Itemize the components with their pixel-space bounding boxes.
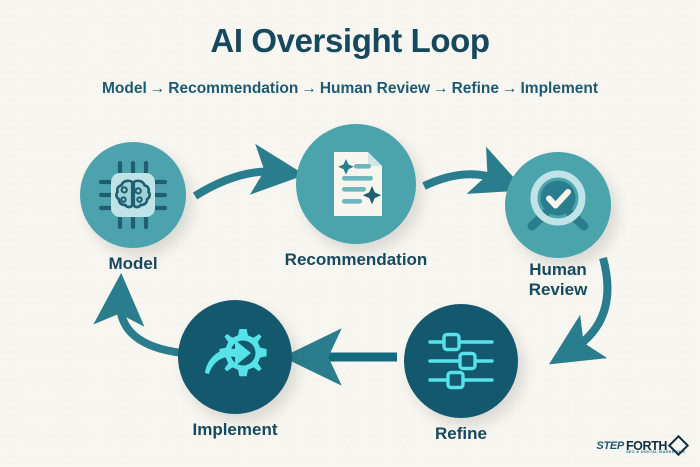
subtitle-separator-2: →	[298, 80, 320, 97]
node-refine[interactable]: Refine	[404, 304, 518, 418]
subtitle-separator-1: →	[147, 80, 169, 97]
node-human-review-label: Human Review	[529, 260, 588, 299]
document-sparkle-icon	[316, 144, 396, 224]
logo-forth-text: FORTH SEO & DIGITAL MARKETING	[626, 439, 667, 453]
infographic-canvas: AI Oversight Loop Model→Recommendation→H…	[0, 0, 700, 467]
brand-logo[interactable]: STEP FORTH SEO & DIGITAL MARKETING	[596, 438, 686, 453]
node-recommendation[interactable]: Recommendation	[296, 124, 416, 244]
node-implement-circle[interactable]	[178, 300, 292, 414]
subtitle-step-recommendation: Recommendation	[168, 80, 298, 97]
connector-model-to-recommendation	[195, 172, 278, 197]
node-recommendation-label: Recommendation	[285, 250, 428, 270]
page-title: AI Oversight Loop	[0, 22, 700, 60]
gear-arrow-icon	[195, 317, 275, 397]
subtitle-step-refine: Refine	[452, 80, 499, 97]
subtitle-step-model: Model	[102, 80, 147, 97]
process-subtitle: Model→Recommendation→Human Review→Refine…	[0, 80, 700, 98]
connector-recommendation-to-human-review	[424, 174, 500, 186]
node-implement[interactable]: Implement	[178, 300, 292, 414]
node-human-review[interactable]: Human Review	[505, 152, 611, 258]
node-refine-circle[interactable]	[404, 304, 518, 418]
node-implement-label: Implement	[192, 420, 277, 440]
node-human-review-circle[interactable]	[505, 152, 611, 258]
subtitle-step-human-review: Human Review	[320, 80, 430, 97]
subtitle-step-implement: Implement	[520, 80, 598, 97]
node-model[interactable]: Model	[80, 142, 186, 248]
connector-implement-to-model	[120, 300, 182, 353]
sliders-icon	[422, 322, 500, 400]
chip-brain-icon	[96, 158, 170, 232]
logo-step-text: STEP	[596, 440, 624, 452]
node-model-label: Model	[108, 254, 157, 274]
magnifier-check-icon	[519, 166, 597, 244]
subtitle-separator-3: →	[430, 80, 452, 97]
node-refine-label: Refine	[435, 424, 487, 444]
node-recommendation-circle[interactable]	[296, 124, 416, 244]
node-model-circle[interactable]	[80, 142, 186, 248]
subtitle-separator-4: →	[499, 80, 521, 97]
